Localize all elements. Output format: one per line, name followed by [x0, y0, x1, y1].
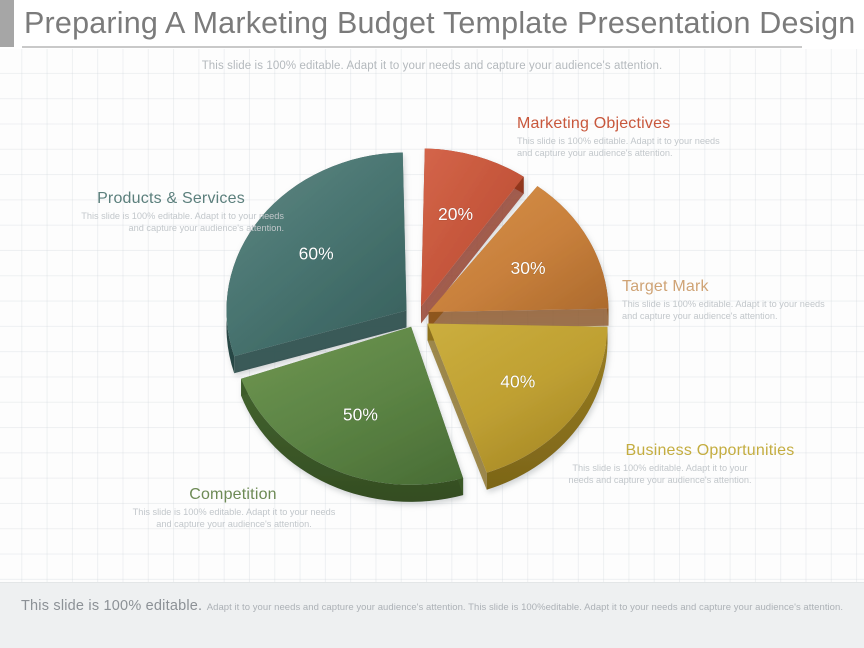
slide-subtitle: This slide is 100% editable. Adapt it to… [0, 60, 864, 72]
pie-slice-wall [421, 177, 524, 324]
pie-label-60: 60% [299, 244, 334, 264]
slide-canvas: Preparing A Marketing Budget Template Pr… [0, 0, 864, 648]
title-divider [22, 46, 802, 48]
pie-label-50: 50% [343, 405, 378, 425]
pie-slice-wall [428, 324, 487, 490]
pie-slice-wall [429, 186, 538, 329]
callout-title: Marketing Objectives [517, 114, 823, 134]
pie-label-40: 40% [500, 372, 535, 392]
callout-marketing-objectives[interactable]: Marketing Objectives This slide is 100% … [517, 114, 823, 159]
callout-title: Products & Services [46, 189, 296, 209]
footer-text-block: This slide is 100% editable. Adapt it to… [16, 597, 848, 616]
pie-slice-rim [537, 186, 608, 326]
pie-slice-face[interactable] [421, 149, 524, 307]
pie-chart: 20% 30% 40% 50% 60% [0, 0, 864, 648]
pie-slice-products-services[interactable] [226, 153, 406, 374]
pie-slice-competition[interactable] [241, 327, 463, 502]
header-accent-bar [0, 0, 14, 47]
pie-slice-wall [234, 311, 406, 374]
callout-body: This slide is 100% editable. Adapt it to… [66, 211, 284, 234]
callout-body: This slide is 100% editable. Adapt it to… [560, 463, 760, 486]
footer-lead-text: This slide is 100% editable. [21, 598, 202, 614]
pie-slice-face[interactable] [429, 186, 609, 312]
pie-slice-wall [241, 327, 411, 396]
callout-body: This slide is 100% editable. Adapt it to… [517, 136, 729, 159]
pie-slice-wall [429, 309, 609, 329]
pie-slice-marketing-objectives[interactable] [421, 149, 524, 324]
pie-slice-rim [226, 153, 402, 374]
pie-slice-wall [421, 149, 425, 324]
pie-slice-rim [241, 379, 463, 502]
callout-competition[interactable]: Competition This slide is 100% editable.… [108, 485, 358, 530]
pie-slice-wall [428, 324, 608, 344]
pie-slice-wall [411, 327, 463, 495]
slide-footer: This slide is 100% editable. Adapt it to… [0, 582, 864, 648]
footer-body-text: Adapt it to your needs and capture your … [207, 602, 843, 613]
pie-chart-svg: 20% 30% 40% 50% 60% [0, 0, 864, 648]
callout-title: Competition [108, 485, 358, 505]
pie-slice-target-mark[interactable] [429, 186, 609, 329]
callout-body: This slide is 100% editable. Adapt it to… [622, 299, 827, 322]
pie-slice-rim [425, 149, 524, 194]
slide-header: Preparing A Marketing Budget Template Pr… [0, 0, 864, 49]
callout-products-services[interactable]: Products & Services This slide is 100% e… [46, 189, 296, 234]
callout-title: Target Mark [622, 277, 852, 297]
callout-body: This slide is 100% editable. Adapt it to… [128, 507, 340, 530]
pie-slice-face[interactable] [241, 327, 463, 485]
callout-business-opportunities[interactable]: Business Opportunities This slide is 100… [560, 441, 860, 486]
callout-title: Business Opportunities [560, 441, 860, 461]
pie-slice-wall [403, 153, 407, 328]
pie-label-30: 30% [510, 258, 545, 278]
pie-label-20: 20% [438, 204, 473, 224]
page-title: Preparing A Marketing Budget Template Pr… [24, 2, 855, 44]
callout-target-mark[interactable]: Target Mark This slide is 100% editable.… [622, 277, 852, 322]
pie-slice-face[interactable] [226, 153, 406, 357]
